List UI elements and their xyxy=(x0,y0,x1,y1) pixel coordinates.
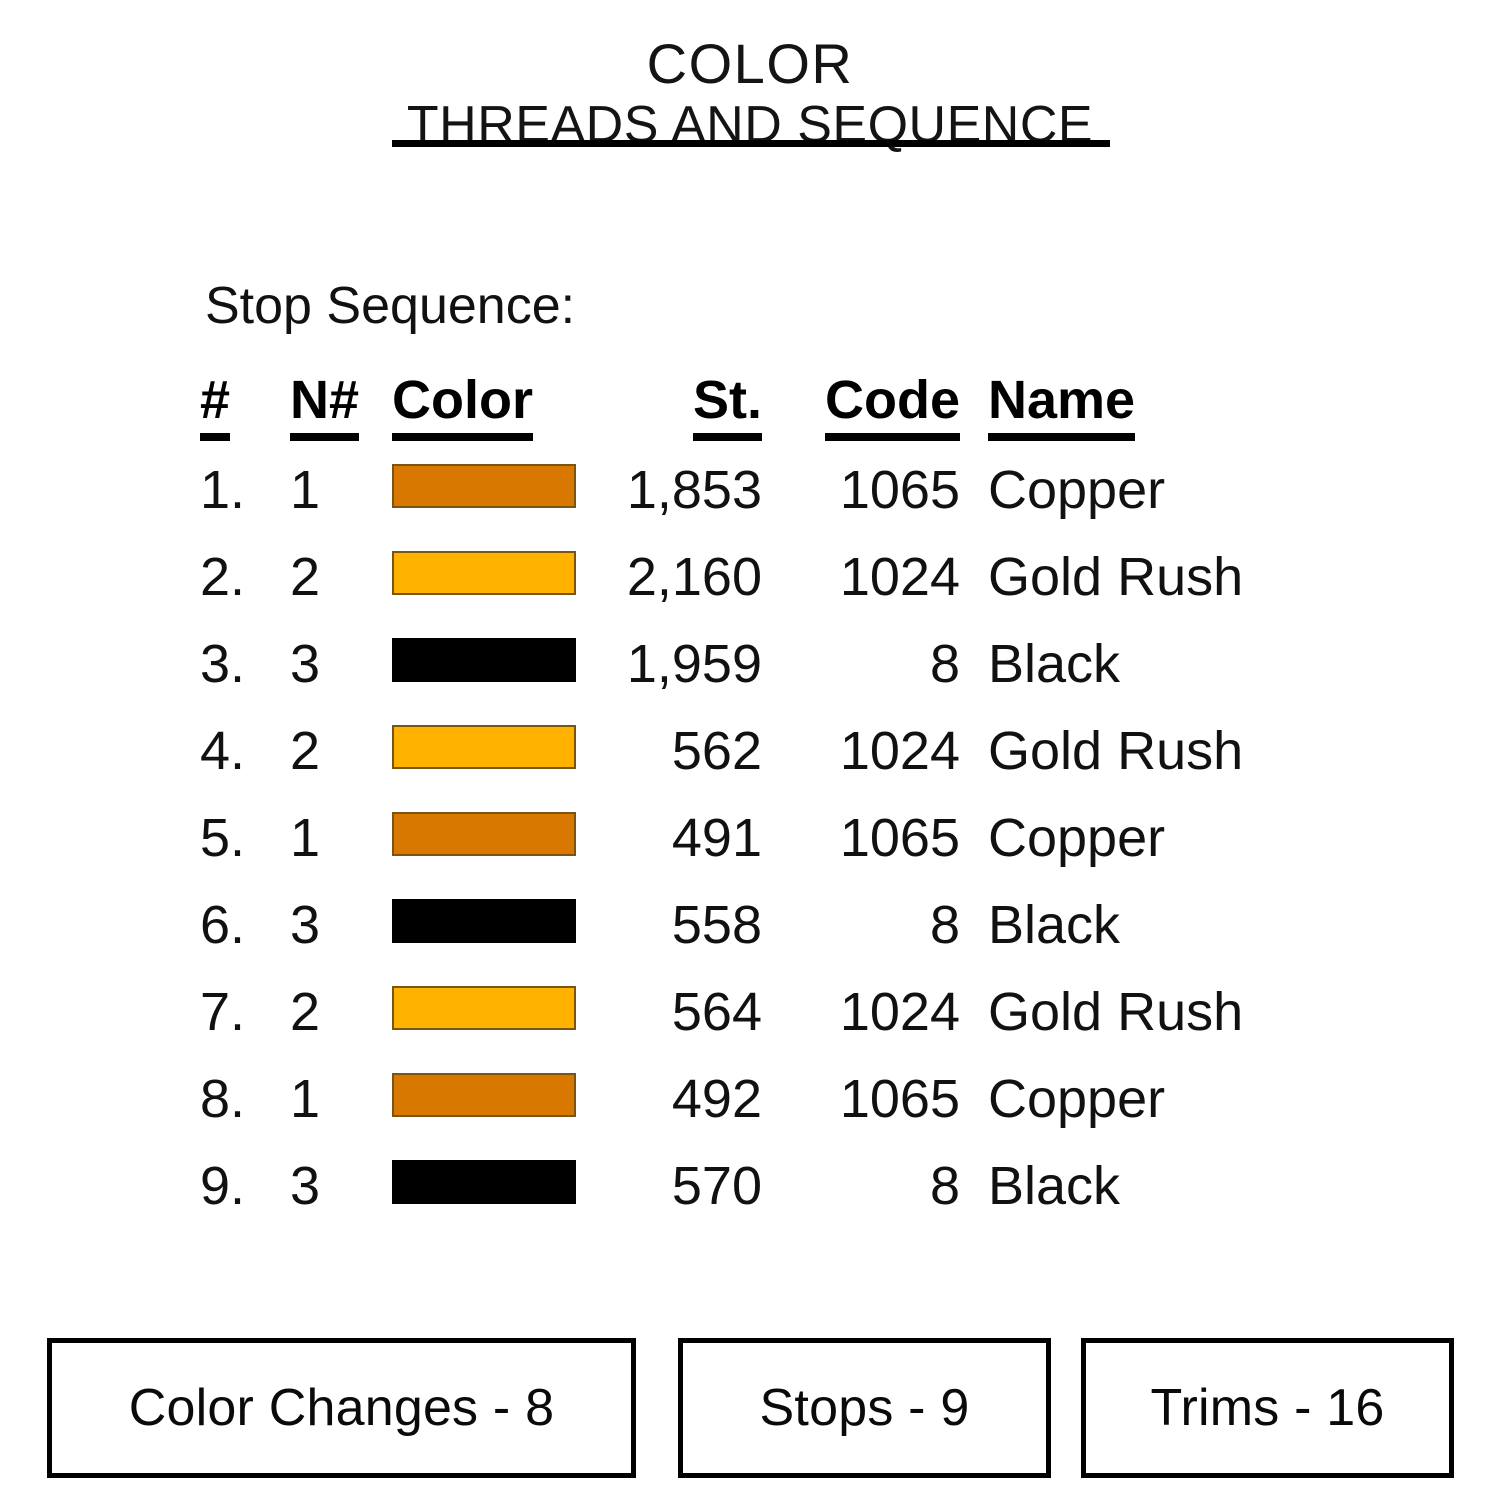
summary-box-color-changes: Color Changes - 8 xyxy=(47,1338,636,1478)
row-stitch-count: 1,959 xyxy=(580,634,762,694)
column-header-needle-number: N# xyxy=(290,370,376,441)
table-row: 4.25621024Gold Rush xyxy=(200,713,1200,800)
column-header-color: Color xyxy=(392,370,582,441)
row-needle-number: 1 xyxy=(290,808,376,868)
row-thread-name: Black xyxy=(988,895,1408,955)
row-thread-code: 1024 xyxy=(788,721,960,781)
document-title-block: COLOR THREADS AND SEQUENCE xyxy=(0,34,1500,154)
color-swatch xyxy=(392,464,576,508)
row-thread-code: 8 xyxy=(788,634,960,694)
row-thread-code: 1065 xyxy=(788,808,960,868)
color-swatch xyxy=(392,725,576,769)
table-row: 2.22,1601024Gold Rush xyxy=(200,539,1200,626)
row-needle-number: 1 xyxy=(290,1069,376,1129)
row-stitch-count: 2,160 xyxy=(580,547,762,607)
row-stitch-count: 564 xyxy=(580,982,762,1042)
row-thread-name: Copper xyxy=(988,808,1408,868)
row-thread-code: 1065 xyxy=(788,460,960,520)
column-header-name: Name xyxy=(988,370,1408,441)
table-row: 5.14911065Copper xyxy=(200,800,1200,887)
color-swatch xyxy=(392,1073,576,1117)
row-needle-number: 3 xyxy=(290,1156,376,1216)
row-index: 5. xyxy=(200,808,266,868)
row-index: 1. xyxy=(200,460,266,520)
row-thread-code: 1024 xyxy=(788,982,960,1042)
color-swatch xyxy=(392,899,576,943)
color-swatch xyxy=(392,551,576,595)
color-swatch xyxy=(392,986,576,1030)
row-thread-name: Black xyxy=(988,1156,1408,1216)
table-row: 8.14921065Copper xyxy=(200,1061,1200,1148)
row-thread-name: Gold Rush xyxy=(988,721,1408,781)
summary-box-stops: Stops - 9 xyxy=(678,1338,1051,1478)
color-swatch xyxy=(392,638,576,682)
row-needle-number: 2 xyxy=(290,721,376,781)
row-needle-number: 2 xyxy=(290,982,376,1042)
row-thread-code: 8 xyxy=(788,895,960,955)
row-stitch-count: 558 xyxy=(580,895,762,955)
column-header-code: Code xyxy=(788,370,960,441)
title-divider-rule xyxy=(392,140,1110,147)
row-thread-name: Black xyxy=(988,634,1408,694)
row-stitch-count: 1,853 xyxy=(580,460,762,520)
row-stitch-count: 570 xyxy=(580,1156,762,1216)
row-thread-name: Gold Rush xyxy=(988,547,1408,607)
row-thread-code: 8 xyxy=(788,1156,960,1216)
table-row: 9.35708Black xyxy=(200,1148,1200,1235)
row-index: 6. xyxy=(200,895,266,955)
row-needle-number: 2 xyxy=(290,547,376,607)
row-stitch-count: 491 xyxy=(580,808,762,868)
row-stitch-count: 562 xyxy=(580,721,762,781)
column-header-number: # xyxy=(200,370,266,441)
table-row: 6.35588Black xyxy=(200,887,1200,974)
stop-sequence-label: Stop Sequence: xyxy=(205,277,575,335)
row-needle-number: 3 xyxy=(290,634,376,694)
row-thread-name: Gold Rush xyxy=(988,982,1408,1042)
row-index: 7. xyxy=(200,982,266,1042)
row-index: 2. xyxy=(200,547,266,607)
summary-box-trims: Trims - 16 xyxy=(1081,1338,1454,1478)
table-header-row: # N# Color St. Code Name xyxy=(200,370,1200,452)
row-index: 9. xyxy=(200,1156,266,1216)
row-needle-number: 3 xyxy=(290,895,376,955)
row-stitch-count: 492 xyxy=(580,1069,762,1129)
row-thread-name: Copper xyxy=(988,1069,1408,1129)
color-swatch xyxy=(392,1160,576,1204)
row-thread-code: 1024 xyxy=(788,547,960,607)
table-row: 7.25641024Gold Rush xyxy=(200,974,1200,1061)
table-row: 3.31,9598Black xyxy=(200,626,1200,713)
row-thread-code: 1065 xyxy=(788,1069,960,1129)
row-thread-name: Copper xyxy=(988,460,1408,520)
stop-sequence-table: # N# Color St. Code Name 1.11,8531065Cop… xyxy=(200,370,1200,1235)
color-swatch xyxy=(392,812,576,856)
table-body: 1.11,8531065Copper2.22,1601024Gold Rush3… xyxy=(200,452,1200,1235)
row-index: 8. xyxy=(200,1069,266,1129)
column-header-stitches: St. xyxy=(580,370,762,441)
row-needle-number: 1 xyxy=(290,460,376,520)
row-index: 3. xyxy=(200,634,266,694)
row-index: 4. xyxy=(200,721,266,781)
table-row: 1.11,8531065Copper xyxy=(200,452,1200,539)
page-title: COLOR xyxy=(0,34,1500,94)
